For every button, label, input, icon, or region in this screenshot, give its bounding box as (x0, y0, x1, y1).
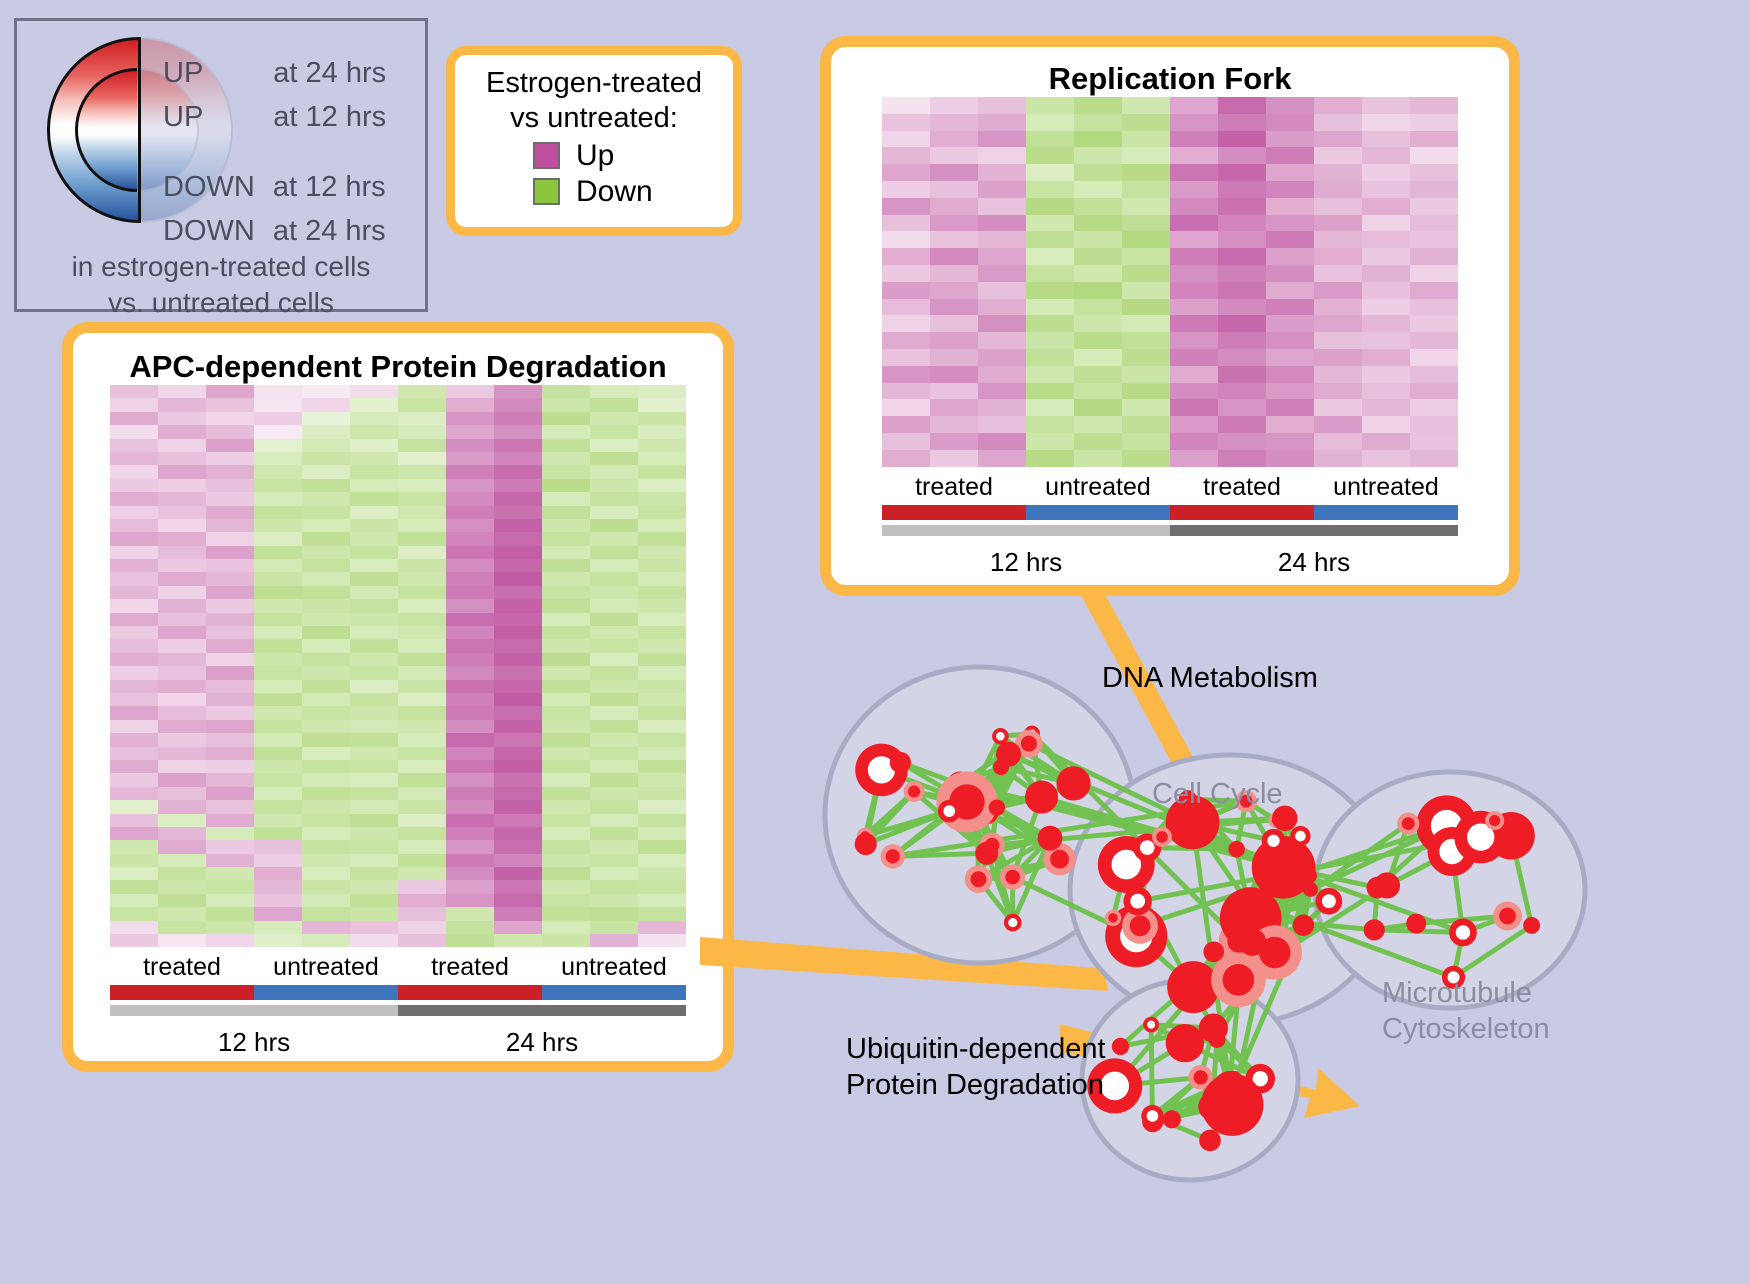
heatmap-cell (1170, 164, 1218, 181)
heatmap-cell (1026, 282, 1074, 299)
heatmap-cell (494, 586, 542, 599)
heatmap-cell (446, 398, 494, 411)
network-node (890, 752, 911, 773)
heatmap-cell (882, 299, 930, 316)
heatmap-cell (638, 854, 686, 867)
heatmap-cell (542, 559, 590, 572)
heatmap-cell (1170, 332, 1218, 349)
heatmap-cell (1122, 97, 1170, 114)
heatmap-cell (398, 921, 446, 934)
heatmap-cell (350, 733, 398, 746)
heatmap-cell (158, 720, 206, 733)
heatmap-cell (638, 921, 686, 934)
heatmap-cell (638, 506, 686, 519)
heatmap-cell (494, 519, 542, 532)
heatmap-cell (638, 385, 686, 398)
network-node (1303, 882, 1318, 897)
heatmap-cell (446, 586, 494, 599)
heatmap-cell (1410, 248, 1458, 265)
heatmap-cell (590, 653, 638, 666)
heatmap-cell (398, 599, 446, 612)
network-graph (790, 600, 1750, 1279)
bar-untreated (1314, 505, 1458, 520)
heatmap-cell (542, 760, 590, 773)
heatmap-cell (398, 412, 446, 425)
heatmap-cell (1362, 399, 1410, 416)
heatmap-cell (158, 439, 206, 452)
heatmap-cell (302, 613, 350, 626)
network-node (880, 844, 904, 868)
heatmap-cell (158, 693, 206, 706)
heatmap-cell (350, 720, 398, 733)
sample-label-row: treated untreated treated untreated (882, 467, 1458, 505)
legend-time: at 24 hrs (273, 215, 386, 248)
time-label: 24 hrs (1170, 541, 1458, 578)
heatmap-cell (206, 385, 254, 398)
heatmap-cell (590, 666, 638, 679)
panel-title: APC-dependent Protein Degradation (73, 349, 723, 385)
heatmap-cell (350, 546, 398, 559)
heatmap-cell (110, 680, 158, 693)
heatmap-cell (350, 519, 398, 532)
heatmap-cell (158, 425, 206, 438)
heatmap-cell (1122, 416, 1170, 433)
heatmap-cell (398, 506, 446, 519)
heatmap-cell (398, 693, 446, 706)
up-label: Up (576, 139, 614, 173)
heatmap-cell (398, 680, 446, 693)
network-node (1124, 887, 1152, 915)
heatmap-cell (302, 706, 350, 719)
heatmap-cell (398, 854, 446, 867)
colormap-legend: UPat 24 hrs UPat 12 hrs DOWNat 12 hrs DO… (14, 18, 428, 312)
heatmap-cell (350, 479, 398, 492)
heatmap-cell (446, 880, 494, 893)
heatmap-cell (1410, 114, 1458, 131)
heatmap-cell (978, 366, 1026, 383)
heatmap-cell (930, 282, 978, 299)
heatmap-cell (590, 546, 638, 559)
heatmap-cell (1026, 450, 1074, 467)
heatmap-cell (1026, 164, 1074, 181)
heatmap-cell (1218, 248, 1266, 265)
heatmap-cell (494, 814, 542, 827)
heatmap-cell (398, 519, 446, 532)
network-node (996, 742, 1021, 767)
heatmap-cell (254, 894, 302, 907)
heatmap-cell (110, 693, 158, 706)
heatmap-cell (978, 181, 1026, 198)
heatmap-cell (110, 814, 158, 827)
heatmap-cell (158, 867, 206, 880)
heatmap-cell (110, 412, 158, 425)
heatmap-cell (398, 385, 446, 398)
bar-24hrs (398, 1005, 686, 1016)
legend-key: UP (163, 57, 203, 90)
heatmap-cell (350, 680, 398, 693)
heatmap-cell (542, 827, 590, 840)
heatmap-cell (494, 479, 542, 492)
heatmap-cell (206, 733, 254, 746)
heatmap-cell (206, 479, 254, 492)
heatmap-cell (446, 840, 494, 853)
heatmap-cell (494, 412, 542, 425)
heatmap-cell (638, 760, 686, 773)
heatmap-cell (638, 546, 686, 559)
heatmap-cell (1074, 399, 1122, 416)
heatmap-cell (110, 854, 158, 867)
heatmap-cell (1122, 366, 1170, 383)
heatmap-cell (302, 894, 350, 907)
heatmap-cell (350, 693, 398, 706)
heatmap-cell (1122, 315, 1170, 332)
heatmap-cell (398, 492, 446, 505)
heatmap-cell (590, 840, 638, 853)
heatmap-cell (1026, 332, 1074, 349)
heatmap-cell (1266, 383, 1314, 400)
heatmap-cell (350, 439, 398, 452)
heatmap-cell (590, 894, 638, 907)
heatmap-cell (638, 934, 686, 947)
network-node (1367, 877, 1389, 899)
heatmap-cell (1074, 114, 1122, 131)
heatmap-cell (1362, 248, 1410, 265)
heatmap-cell (110, 840, 158, 853)
updown-legend-title: Estrogen-treated vs untreated: (455, 66, 733, 137)
heatmap-cell (110, 666, 158, 679)
heatmap-cell (350, 626, 398, 639)
heatmap-cell (398, 733, 446, 746)
heatmap-cell (978, 265, 1026, 282)
heatmap-cell (494, 827, 542, 840)
heatmap-cell (590, 613, 638, 626)
heatmap-cell (930, 383, 978, 400)
label-line-2: Cytoskeleton (1382, 1012, 1550, 1048)
heatmap-cell (978, 433, 1026, 450)
heatmap-cell (206, 854, 254, 867)
heatmap-cell (1362, 416, 1410, 433)
heatmap-cell (302, 720, 350, 733)
network-node (1199, 1130, 1221, 1152)
heatmap-cell (1122, 181, 1170, 198)
heatmap-cell (206, 559, 254, 572)
heatmap-cell (350, 412, 398, 425)
axis-replication-fork: treated untreated treated untreated 12 h… (882, 467, 1458, 578)
heatmap-cell (930, 299, 978, 316)
network-node (1025, 781, 1058, 814)
heatmap-cell (398, 907, 446, 920)
heatmap-cell (1170, 399, 1218, 416)
heatmap-cell (1410, 97, 1458, 114)
heatmap-cell (350, 814, 398, 827)
heatmap-cell (446, 572, 494, 585)
title-line-2: vs untreated: (455, 101, 733, 136)
heatmap-cell (158, 559, 206, 572)
heatmap-cell (206, 827, 254, 840)
heatmap-cell (398, 559, 446, 572)
heatmap-cell (1314, 299, 1362, 316)
heatmap-cell (590, 385, 638, 398)
heatmap-cell (1362, 450, 1410, 467)
heatmap-cell (1410, 315, 1458, 332)
heatmap-cell (110, 880, 158, 893)
heatmap-cell (206, 773, 254, 786)
heatmap-cell (930, 315, 978, 332)
heatmap-cell (542, 880, 590, 893)
heatmap-cell (1362, 147, 1410, 164)
heatmap-cell (254, 653, 302, 666)
heatmap-cell (590, 572, 638, 585)
bar-treated (882, 505, 1026, 520)
heatmap-cell (1362, 366, 1410, 383)
heatmap-cell (1026, 181, 1074, 198)
heatmap-cell (590, 921, 638, 934)
heatmap-cell (1362, 282, 1410, 299)
heatmap-cell (302, 800, 350, 813)
heatmap-cell (930, 164, 978, 181)
heatmap-cell (350, 867, 398, 880)
network-node (965, 866, 992, 893)
heatmap-cell (446, 653, 494, 666)
heatmap-cell (302, 425, 350, 438)
heatmap-cell (158, 747, 206, 760)
heatmap-cell (206, 666, 254, 679)
heatmap-cell (302, 599, 350, 612)
heatmap-cell (302, 639, 350, 652)
heatmap-cell (542, 693, 590, 706)
heatmap-cell (978, 282, 1026, 299)
heatmap-cell (978, 147, 1026, 164)
heatmap-cell (254, 787, 302, 800)
heatmap-cell (398, 653, 446, 666)
heatmap-cell (494, 854, 542, 867)
heatmap-cell (206, 814, 254, 827)
heatmap-cell (446, 680, 494, 693)
heatmap-cell (446, 519, 494, 532)
heatmap-cell (110, 599, 158, 612)
heatmap-cell (542, 720, 590, 733)
heatmap-cell (302, 733, 350, 746)
heatmap-cell (446, 626, 494, 639)
heatmap-cell (254, 840, 302, 853)
heatmap-cell (302, 519, 350, 532)
heatmap-cell (254, 613, 302, 626)
heatmap-cell (590, 907, 638, 920)
heatmap-cell (1026, 231, 1074, 248)
heatmap-cell (1410, 349, 1458, 366)
heatmap-cell (254, 733, 302, 746)
heatmap-cell (638, 586, 686, 599)
heatmap-cell (350, 385, 398, 398)
network-node (1198, 1093, 1226, 1121)
sample-color-bar (110, 985, 686, 1000)
heatmap-cell (1218, 332, 1266, 349)
heatmap-cell (978, 97, 1026, 114)
network-node (1112, 1038, 1129, 1055)
heatmap-cell (978, 450, 1026, 467)
heatmap-cell (398, 586, 446, 599)
heatmap-cell (158, 773, 206, 786)
heatmap-cell (254, 479, 302, 492)
heatmap-cell (882, 433, 930, 450)
heatmap-cell (542, 934, 590, 947)
heatmap-cell (978, 349, 1026, 366)
legend-key: UP (163, 101, 203, 134)
updown-legend-card: Estrogen-treated vs untreated: Up Down (446, 46, 742, 236)
heatmap-cell (590, 506, 638, 519)
heatmap-cell (158, 827, 206, 840)
network-node (1485, 811, 1504, 830)
heatmap-cell (1218, 215, 1266, 232)
heatmap-cell (1074, 450, 1122, 467)
heatmap-cell (206, 693, 254, 706)
heatmap-cell (542, 519, 590, 532)
heatmap-cell (158, 572, 206, 585)
heatmap-cell (1122, 198, 1170, 215)
network-node (1406, 914, 1426, 934)
heatmap-cell (494, 733, 542, 746)
heatmap-cell (158, 814, 206, 827)
heatmap-cell (494, 465, 542, 478)
heatmap-cell (206, 747, 254, 760)
heatmap-cell (1314, 164, 1362, 181)
heatmap-cell (1170, 450, 1218, 467)
heatmap-cell (542, 546, 590, 559)
heatmap-cell (542, 492, 590, 505)
heatmap-cell (350, 452, 398, 465)
heatmap-cell (158, 599, 206, 612)
heatmap-cell (494, 559, 542, 572)
heatmap-cell (590, 827, 638, 840)
heatmap-cell (638, 639, 686, 652)
heatmap-cell (638, 867, 686, 880)
network-node (904, 781, 925, 802)
heatmap-cell (206, 800, 254, 813)
heatmap-cell (882, 399, 930, 416)
heatmap-cell (158, 546, 206, 559)
heatmap-cell (494, 680, 542, 693)
heatmap-cell (110, 760, 158, 773)
heatmap-cell (882, 164, 930, 181)
heatmap-cell (350, 639, 398, 652)
heatmap-cell (542, 425, 590, 438)
heatmap-cell (1314, 231, 1362, 248)
heatmap-cell (254, 599, 302, 612)
heatmap-cell (494, 398, 542, 411)
heatmap-cell (398, 800, 446, 813)
heatmap-cell (254, 773, 302, 786)
sample-label: untreated (1026, 467, 1170, 505)
heatmap-cell (206, 506, 254, 519)
heatmap-cell (158, 854, 206, 867)
heatmap-cell (1218, 198, 1266, 215)
heatmap-cell (206, 706, 254, 719)
heatmap-cell (590, 773, 638, 786)
sample-label-row: treated untreated treated untreated (110, 947, 686, 985)
network-node (1199, 1014, 1228, 1043)
network-node (1038, 826, 1063, 851)
heatmap-cell (254, 559, 302, 572)
heatmap-cell (638, 733, 686, 746)
heatmap-cell (1314, 450, 1362, 467)
network-node (1397, 813, 1419, 835)
heatmap-cell (110, 586, 158, 599)
heatmap-cell (110, 827, 158, 840)
heatmap-cell (638, 827, 686, 840)
heatmap-cell (1410, 282, 1458, 299)
heatmap-cell (254, 586, 302, 599)
heatmap-cell (110, 398, 158, 411)
heatmap-cell (206, 586, 254, 599)
heatmap-cell (1026, 265, 1074, 282)
heatmap-cell (206, 680, 254, 693)
heatmap-cell (350, 599, 398, 612)
heatmap-cell (254, 921, 302, 934)
heatmap-cell (542, 572, 590, 585)
heatmap-cell (446, 773, 494, 786)
time-label: 12 hrs (110, 1021, 398, 1058)
heatmap-cell (206, 425, 254, 438)
heatmap-cell (254, 666, 302, 679)
sample-color-bar (882, 505, 1458, 520)
heatmap-cell (1218, 147, 1266, 164)
heatmap-cell (398, 613, 446, 626)
heatmap-cell (254, 827, 302, 840)
heatmap-cell (1362, 215, 1410, 232)
legend-key: DOWN (163, 171, 255, 204)
heatmap-cell (1026, 399, 1074, 416)
heatmap-cell (1074, 433, 1122, 450)
heatmap-cell (302, 398, 350, 411)
heatmap-cell (206, 492, 254, 505)
heatmap-cell (206, 613, 254, 626)
heatmap-cell (446, 921, 494, 934)
heatmap-cell (1026, 248, 1074, 265)
heatmap-cell (590, 693, 638, 706)
heatmap-cell (206, 452, 254, 465)
heatmap-cell (638, 693, 686, 706)
heatmap-cell (1314, 433, 1362, 450)
heatmap-cell (1362, 299, 1410, 316)
heatmap-cell (350, 506, 398, 519)
heatmap-cell (206, 867, 254, 880)
heatmap-cell (398, 465, 446, 478)
heatmap-cell (350, 760, 398, 773)
legend-row-down-24: DOWNat 24 hrs (163, 215, 386, 248)
heatmap-cell (1410, 433, 1458, 450)
heatmap-cell (638, 880, 686, 893)
heatmap-cell (1074, 383, 1122, 400)
bar-12hrs (110, 1005, 398, 1016)
heatmap-cell (1266, 315, 1314, 332)
heatmap-cell (158, 465, 206, 478)
heatmap-cell (350, 666, 398, 679)
heatmap-cell (882, 416, 930, 433)
sample-label: untreated (1314, 467, 1458, 505)
heatmap-cell (446, 599, 494, 612)
heatmap-cell (1218, 299, 1266, 316)
heatmap-cell (206, 720, 254, 733)
heatmap-cell (254, 398, 302, 411)
heatmap-cell (882, 366, 930, 383)
heatmap-cell (1026, 349, 1074, 366)
heatmap-cell (1170, 97, 1218, 114)
heatmap-cell (446, 693, 494, 706)
heatmap-cell (1266, 399, 1314, 416)
heatmap-cell (398, 639, 446, 652)
heatmap-cell (1074, 131, 1122, 148)
heatmap-cell (398, 827, 446, 840)
